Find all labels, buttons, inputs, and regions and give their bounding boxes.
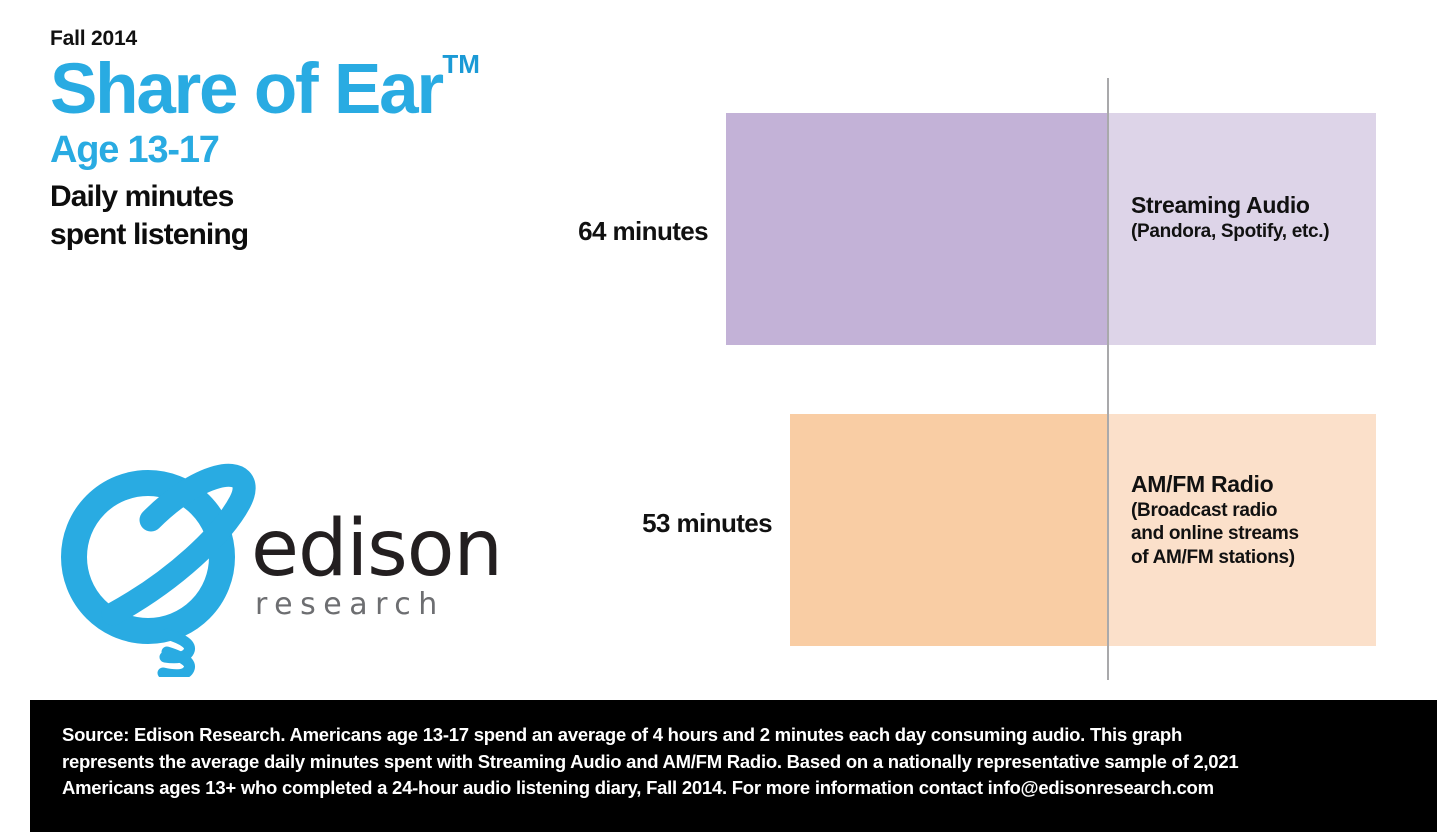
source-footnote-line: Source: Edison Research. Americans age 1… <box>62 722 1407 749</box>
value-label-amfm-radio: 53 minutes <box>642 508 772 539</box>
season-label: Fall 2014 <box>50 28 670 49</box>
source-footnote-line: Americans ages 13+ who completed a 24-ho… <box>62 775 1407 802</box>
title-row: Share of Ear TM <box>50 55 442 125</box>
series-description: (Broadcast radio and online streams of A… <box>1131 499 1299 569</box>
source-footnote-line: represents the average daily minutes spe… <box>62 749 1407 776</box>
series-label-amfm-radio: AM/FM Radio (Broadcast radio and online … <box>1131 472 1299 569</box>
edison-lightbulb-planet-icon <box>55 462 265 677</box>
series-description: (Pandora, Spotify, etc.) <box>1131 220 1329 243</box>
series-description-line: (Pandora, Spotify, etc.) <box>1131 220 1329 243</box>
infographic-canvas: Fall 2014 Share of Ear TM Age 13-17 Dail… <box>0 0 1448 832</box>
bar-segment-dark <box>726 113 1107 345</box>
edison-research-logo: edison research <box>55 462 505 677</box>
age-range-label: Age 13-17 <box>50 131 670 171</box>
series-name: Streaming Audio <box>1131 193 1329 218</box>
trademark-icon: TM <box>442 51 480 77</box>
source-footnote: Source: Edison Research. Americans age 1… <box>62 722 1407 802</box>
logo-name: edison <box>251 514 511 586</box>
source-footer-bar: Source: Edison Research. Americans age 1… <box>30 700 1437 832</box>
value-label-streaming-audio: 64 minutes <box>578 216 708 247</box>
series-description-line: and online streams <box>1131 522 1299 545</box>
bar-segment-dark <box>790 414 1107 646</box>
logo-tagline: research <box>255 590 511 620</box>
subtitle-block: Daily minutes spent listening <box>50 178 670 253</box>
header-block: Fall 2014 Share of Ear TM Age 13-17 Dail… <box>50 28 670 253</box>
subtitle-line-2: spent listening <box>50 216 670 254</box>
series-label-streaming-audio: Streaming Audio (Pandora, Spotify, etc.) <box>1131 193 1329 243</box>
chart-divider-line <box>1107 78 1109 680</box>
page-title: Share of Ear <box>50 55 442 125</box>
series-description-line: of AM/FM stations) <box>1131 546 1299 569</box>
subtitle-line-1: Daily minutes <box>50 178 670 216</box>
logo-wordmark: edison research <box>251 514 511 620</box>
series-name: AM/FM Radio <box>1131 472 1299 497</box>
series-description-line: (Broadcast radio <box>1131 499 1299 522</box>
